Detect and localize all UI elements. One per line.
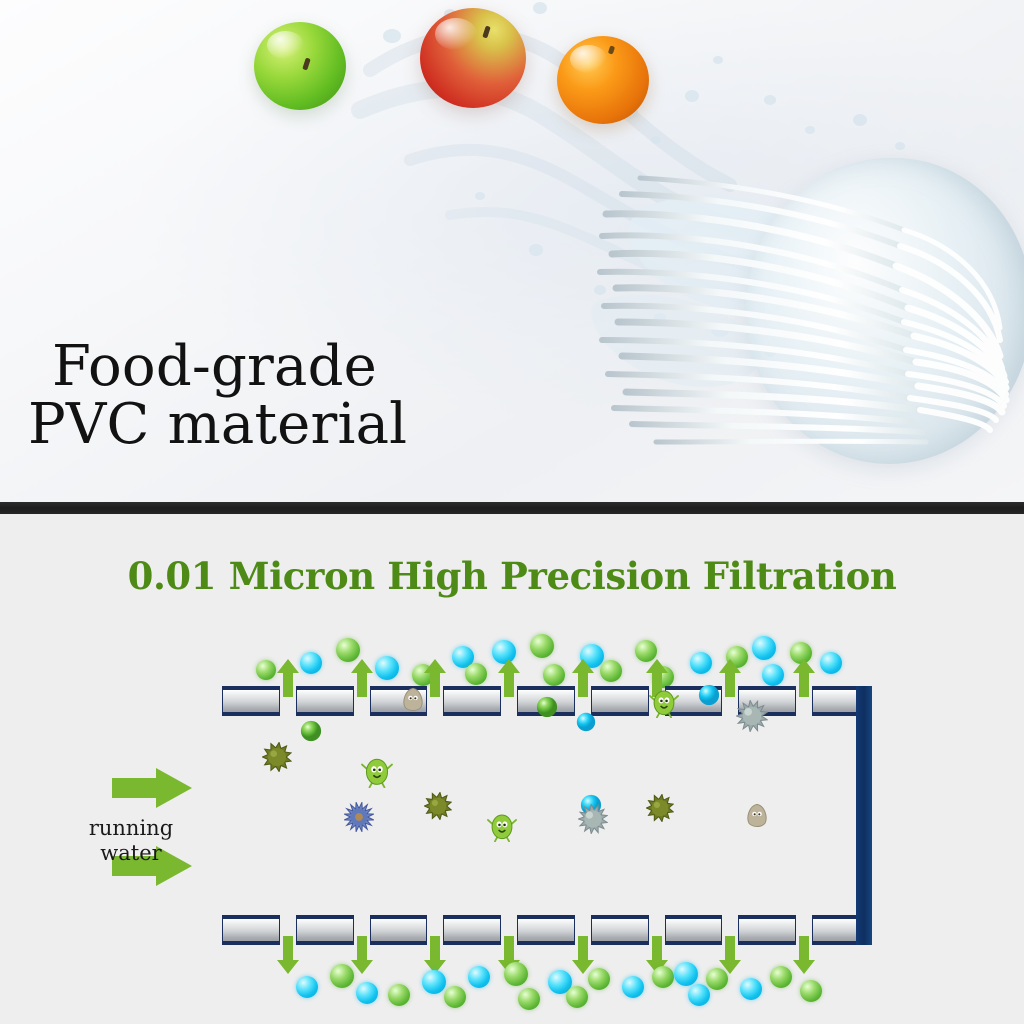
contaminant-spiky-gray <box>578 804 608 834</box>
pore-arrow-down <box>276 935 300 975</box>
clean-water-dot <box>468 966 490 988</box>
clean-water-dot <box>422 970 446 994</box>
membrane-segment <box>296 915 354 945</box>
contaminant-spiky-olive <box>646 794 674 822</box>
contaminant-spiky-gray <box>736 700 768 732</box>
clean-water-dot <box>752 636 776 660</box>
pore-arrow-down <box>792 935 816 975</box>
membrane-wall-bottom <box>222 915 870 945</box>
contaminant-cartoon-green <box>360 754 394 788</box>
pore-arrow-up <box>718 658 742 698</box>
membrane-segment <box>591 915 649 945</box>
clean-water-dot <box>375 656 399 680</box>
membrane-segment <box>665 915 723 945</box>
top-product-photo-panel: Food-grade PVC material <box>0 0 1024 502</box>
running-water-line-2: water <box>100 841 161 865</box>
membrane-segment <box>370 915 428 945</box>
filter-end-cap <box>856 686 872 945</box>
headline-line-2: PVC material <box>28 396 407 454</box>
membrane-segment <box>517 915 575 945</box>
apple-gloss <box>267 31 304 59</box>
clean-water-dot <box>566 986 588 1008</box>
running-water-label: running water <box>56 816 206 866</box>
contaminant-spiky-olive <box>424 792 452 820</box>
apple-stem <box>302 58 310 71</box>
clean-water-dot <box>330 964 354 988</box>
contaminant-beige-amoeba <box>744 802 770 828</box>
membrane-segment <box>296 686 354 716</box>
clean-water-dot <box>770 966 792 988</box>
contaminant-spiky-olive <box>262 742 292 772</box>
contaminant-dot-cyan <box>698 684 720 706</box>
contaminant-dot-cyan <box>576 712 596 732</box>
clean-water-dot <box>388 984 410 1006</box>
clean-water-dot <box>543 664 565 686</box>
clean-water-dot <box>300 652 322 674</box>
clean-water-dot <box>762 664 784 686</box>
infographic-page: Food-grade PVC material 0.01 Micron High… <box>0 0 1024 1024</box>
clean-water-dot <box>588 968 610 990</box>
red-apple-fruit <box>420 8 526 108</box>
clean-water-dot <box>706 968 728 990</box>
filtration-diagram-panel: 0.01 Micron High Precision Filtration <box>0 514 1024 1024</box>
contaminant-dot-green <box>536 696 558 718</box>
headline-line-1: Food-grade <box>52 334 377 399</box>
clean-water-dot <box>690 652 712 674</box>
membrane-segment <box>443 915 501 945</box>
pore-arrow-down <box>571 935 595 975</box>
clean-water-dot <box>465 663 487 685</box>
pore-arrow-up <box>792 658 816 698</box>
orange-gloss <box>570 45 607 73</box>
orange-fruit <box>557 36 649 124</box>
clean-water-dot <box>518 988 540 1010</box>
clean-water-dot <box>652 966 674 988</box>
clean-water-dot <box>740 978 762 1000</box>
membrane-segment <box>222 915 280 945</box>
pore-arrow-up <box>571 658 595 698</box>
contaminant-spiky-blue <box>344 802 374 832</box>
clean-water-dot <box>600 660 622 682</box>
pore-arrow-up <box>350 658 374 698</box>
clean-water-dot <box>674 962 698 986</box>
panel-divider <box>0 502 1024 514</box>
clean-water-dot <box>622 976 644 998</box>
membrane-segment <box>443 686 501 716</box>
fiber-strands <box>596 150 1024 500</box>
clean-water-dot <box>504 962 528 986</box>
clean-water-dot <box>820 652 842 674</box>
contaminant-cartoon-green <box>486 810 518 842</box>
contaminant-beige-amoeba <box>400 686 426 712</box>
apple-gloss <box>435 18 477 50</box>
filter-cross-section-diagram: running water <box>0 624 1024 1014</box>
contaminant-dot-green <box>300 720 322 742</box>
clean-water-dot <box>256 660 276 680</box>
pore-arrow-up <box>276 658 300 698</box>
clean-water-dot <box>688 984 710 1006</box>
clean-water-dot <box>356 982 378 1004</box>
membrane-segment <box>591 686 649 716</box>
hollow-fiber-membrane-bundle <box>596 150 1024 500</box>
section-subtitle: 0.01 Micron High Precision Filtration <box>0 554 1024 598</box>
inflow-arrow-top <box>110 766 194 810</box>
clean-water-dot <box>296 976 318 998</box>
running-water-line-1: running <box>89 816 173 840</box>
pore-arrow-down <box>350 935 374 975</box>
pore-arrow-down <box>423 935 447 975</box>
clean-water-dot <box>444 986 466 1008</box>
pore-arrow-up <box>423 658 447 698</box>
orange-stem <box>608 45 615 54</box>
membrane-segment <box>738 915 796 945</box>
contaminant-cartoon-green <box>648 686 680 718</box>
green-apple-fruit <box>254 22 346 110</box>
apple-stem <box>482 26 490 39</box>
clean-water-dot <box>800 980 822 1002</box>
pore-arrow-up <box>497 658 521 698</box>
membrane-segment <box>222 686 280 716</box>
page-title: Food-grade PVC material <box>52 338 407 453</box>
clean-water-dot <box>530 634 554 658</box>
